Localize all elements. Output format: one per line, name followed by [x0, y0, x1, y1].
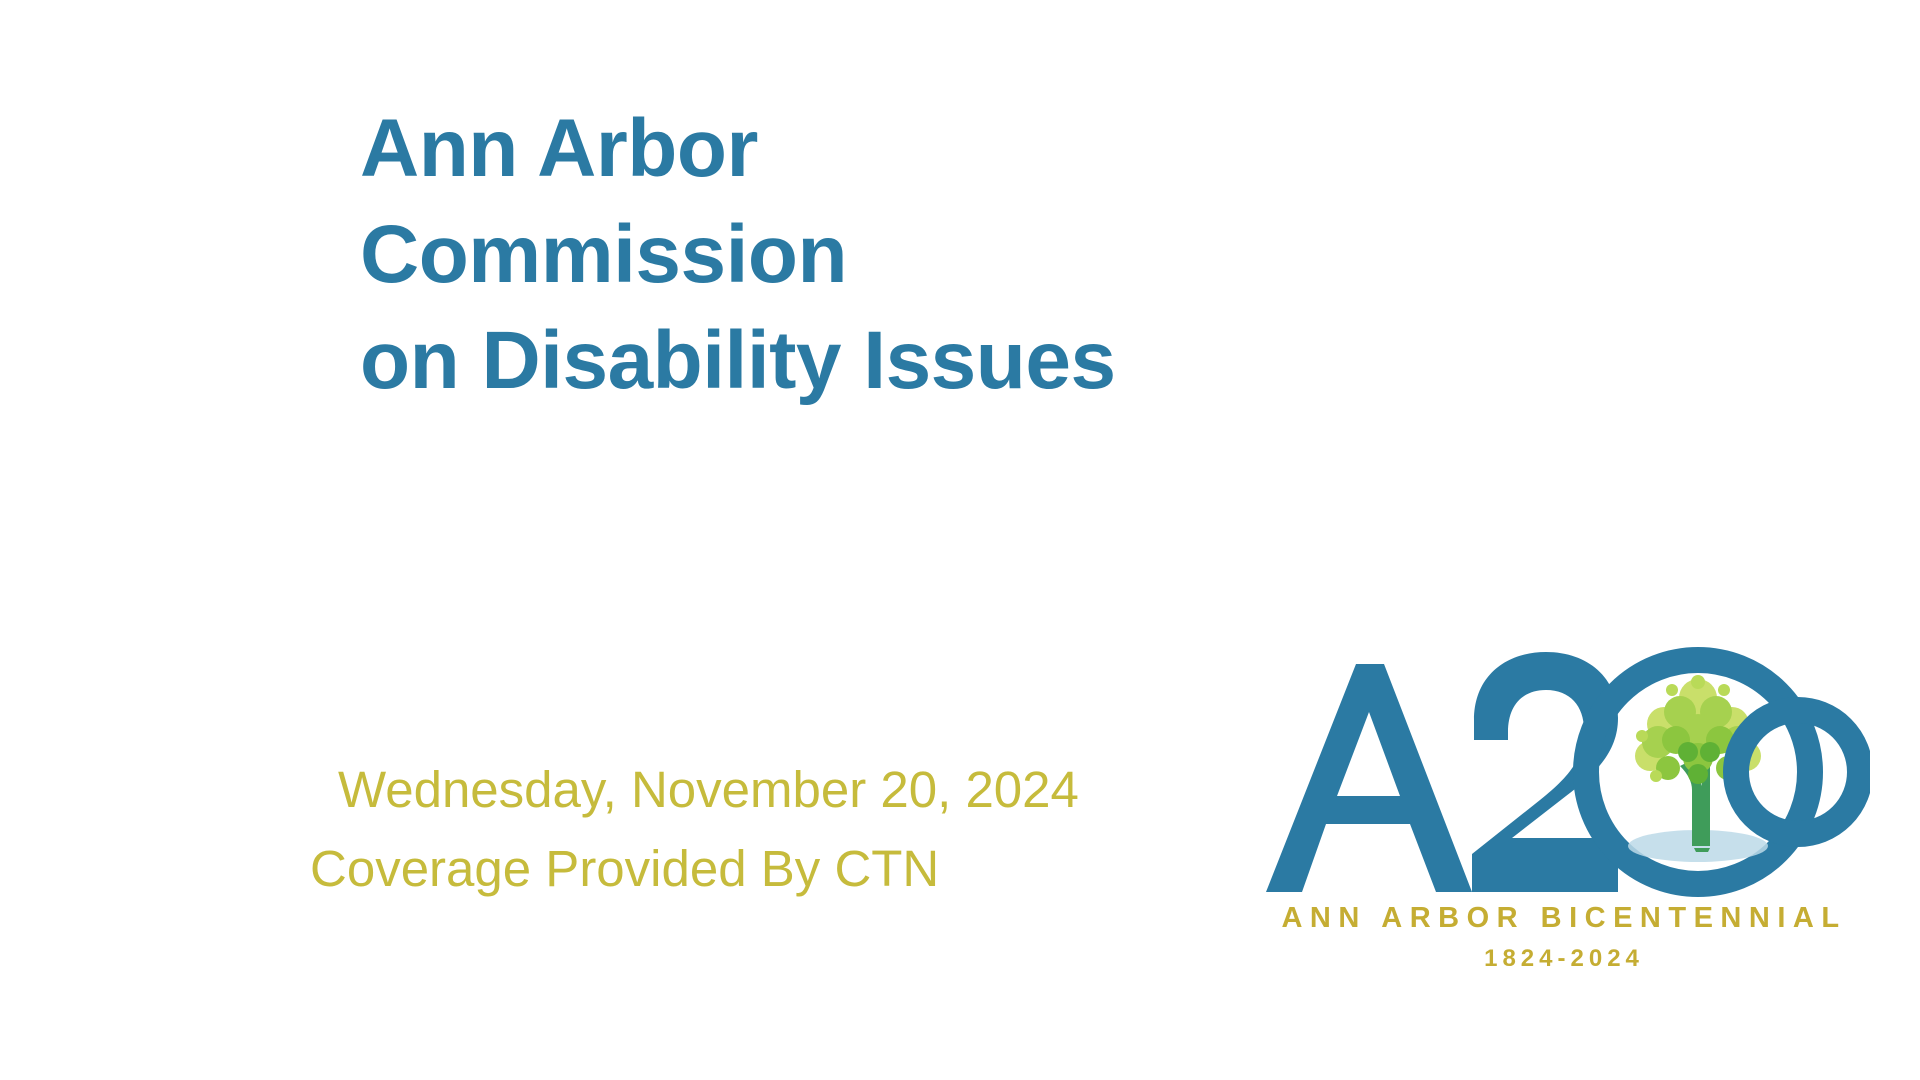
coverage-credit: Coverage Provided By CTN	[310, 829, 1270, 908]
title-line-1: Ann Arbor	[360, 96, 1420, 202]
logo-wordmark: ANN ARBOR BICENTENNIAL 1824-2024	[1258, 902, 1870, 973]
title-line-2: Commission	[360, 202, 1420, 308]
bicentennial-logo: ANN ARBOR BICENTENNIAL 1824-2024	[1258, 640, 1870, 1010]
logo-name-text: ANN ARBOR BICENTENNIAL	[1258, 902, 1870, 935]
logo-years-text: 1824-2024	[1258, 945, 1870, 973]
title-slide: Ann Arbor Commission on Disability Issue…	[0, 0, 1920, 1080]
page-title: Ann Arbor Commission on Disability Issue…	[360, 96, 1420, 413]
a200-logo-icon	[1258, 640, 1870, 905]
meeting-date: Wednesday, November 20, 2024	[310, 750, 1270, 829]
subtitle: Wednesday, November 20, 2024 Coverage Pr…	[310, 750, 1270, 908]
title-line-3: on Disability Issues	[360, 308, 1420, 414]
